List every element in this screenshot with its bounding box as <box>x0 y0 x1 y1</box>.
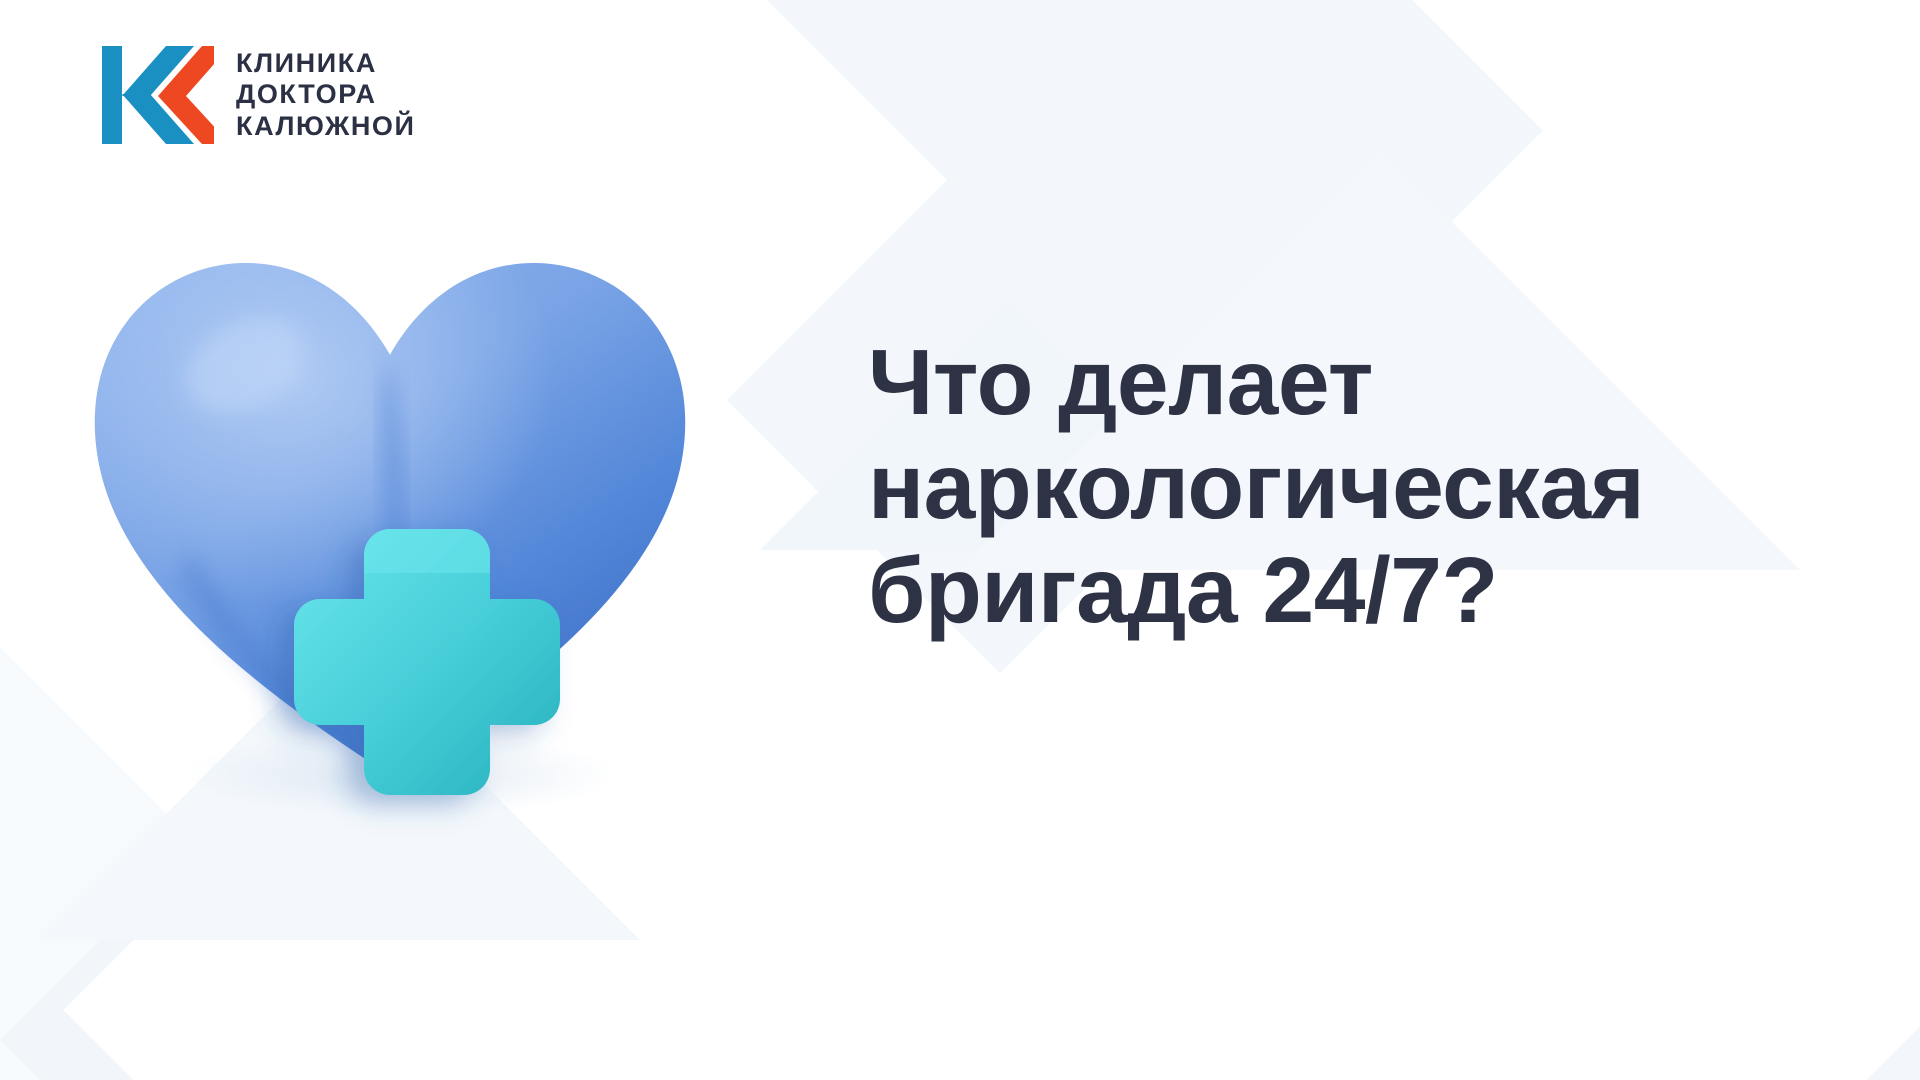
logo-line-3: КАЛЮЖНОЙ <box>236 111 416 143</box>
logo-line-1: КЛИНИКА <box>236 48 416 80</box>
headline-line-3: бригада 24/7? <box>868 538 1878 642</box>
headline-line-1: Что делает <box>868 330 1878 434</box>
heart-illustration <box>70 215 710 835</box>
promo-banner: КЛИНИКА ДОКТОРА КАЛЮЖНОЙ <box>0 0 1920 1080</box>
logo-line-2: ДОКТОРА <box>236 79 416 111</box>
kk-monogram-icon <box>96 36 214 154</box>
heart-with-medical-cross-3d <box>70 215 710 835</box>
logo-wordmark: КЛИНИКА ДОКТОРА КАЛЮЖНОЙ <box>236 48 416 143</box>
headline-block: Что делает наркологическая бригада 24/7? <box>868 330 1878 642</box>
clinic-logo[interactable]: КЛИНИКА ДОКТОРА КАЛЮЖНОЙ <box>96 36 416 154</box>
headline-line-2: наркологическая <box>868 434 1878 538</box>
